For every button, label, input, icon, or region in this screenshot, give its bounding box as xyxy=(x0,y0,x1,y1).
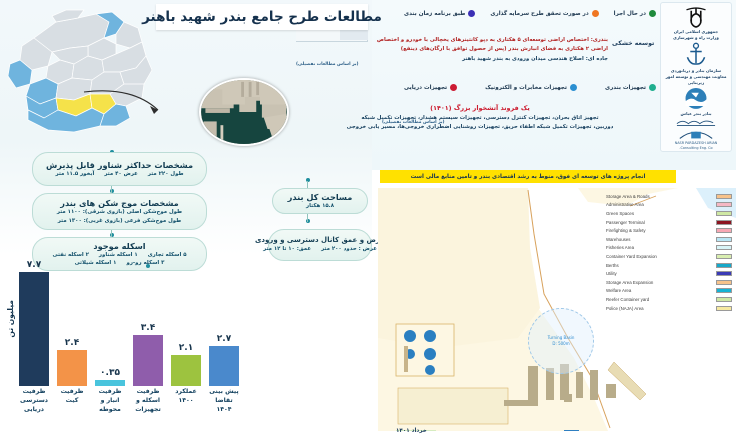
bar-rect xyxy=(171,355,201,386)
channel-width: عرض : حدود ۲۰۰ متر xyxy=(321,245,377,253)
map-legend-label: Container Yard Expansion xyxy=(606,254,657,259)
bar-label: ظرفیت اسکله و تجهیزات xyxy=(132,388,164,438)
map-legend-label: Berths xyxy=(606,263,619,268)
bar-value: ۰.۳۵ xyxy=(100,368,120,378)
map-legend-label: Warehouses xyxy=(606,237,631,242)
map-legend-row: Green Spaces xyxy=(606,209,732,218)
map-legend-label: Passenger Terminal xyxy=(606,220,645,225)
bubble-channel-title: عرض و عمق کانال دسترسی و ورودی xyxy=(255,236,385,245)
equipment-headline: یک فروند آتشخوار بزرگ (۱۴۰۱) xyxy=(300,104,660,112)
bubble-berths-row-1: ۵ اسکله تجاری ۱ اسکله شناور ۲ اسکله نفتی xyxy=(53,251,187,259)
map-legend-swatch xyxy=(716,228,732,233)
port-master-plan-map: Turning Basin D: 500m Storage Area & Roa… xyxy=(378,188,736,431)
map-legend-label: Police (NAJA) Area xyxy=(606,306,644,311)
bar-label: عملکرد ۱۴۰۰ xyxy=(170,388,202,438)
yellow-banner: انجام پروژه های توسعه ای فوق، منوط به رش… xyxy=(380,170,676,183)
map-legend-row: Container Yard Expansion xyxy=(606,252,732,261)
map-legend-label: Fisheries Area xyxy=(606,245,634,250)
legend-label-telecom-equipment: تجهیزات مخابرات و الکترونیک xyxy=(485,85,567,91)
page-title: مطالعات طرح جامع بندر شهید باهنر xyxy=(156,4,368,30)
infographic-root: مطالعات طرح جامع بندر شهید باهنر xyxy=(0,0,736,440)
bubble-max-vessel-title: مشخصات حداکثر شناور قابل پذیرش xyxy=(46,160,193,170)
yellow-banner-text: انجام پروژه های توسعه ای فوق، منوط به رش… xyxy=(411,174,646,180)
bubble-max-vessel: مشخصات حداکثر شناور قابل پذیرش طول ۲۲۰ م… xyxy=(32,152,207,186)
map-legend-swatch xyxy=(716,220,732,225)
bar-group: ۳.۴ xyxy=(132,323,164,386)
legend-item-in-progress: در حال اجرا xyxy=(614,10,656,17)
map-legend-swatch xyxy=(716,237,732,242)
map-legend-row: Warehouses xyxy=(606,235,732,244)
logo-caption-ministry: جمهوری اسلامی ایرانوزارت راه و شهرسازی xyxy=(673,29,719,41)
page-title-text: مطالعات طرح جامع بندر شهید باهنر xyxy=(142,9,382,25)
legend-label-marine-equipment: تجهیزات دریایی xyxy=(404,85,447,91)
bubble-breakwater: مشخصات موج شکن های بندر طول موج‌شکن اصلی… xyxy=(32,193,207,230)
map-legend-row: Storage Area Expansion xyxy=(606,278,732,287)
map-legend-swatch xyxy=(716,194,732,199)
section-label-dryland: توسعه خشکی xyxy=(612,40,654,47)
map-legend-swatch xyxy=(716,288,732,293)
map-legend-row: Reefer Container yard xyxy=(606,295,732,304)
logo-caption-bandar: بنادر بندر عباس xyxy=(681,111,712,117)
consultant-logo-icon xyxy=(675,127,717,140)
breakwater-main: طول موج‌شکن اصلی (بازوی شرقی): ۱۱۰۰ متر xyxy=(57,208,182,216)
equipment-description: یک فروند آتشخوار بزرگ (۱۴۰۱) تجهیز اتاق … xyxy=(300,104,660,133)
bar-value: ۷.۷ xyxy=(27,260,41,270)
bar-group: ۷.۷ xyxy=(18,260,50,386)
dryland-note: (بر اساس مطالعات تفصیلی) xyxy=(296,62,359,67)
map-legend-row: Welfare Area xyxy=(606,287,732,296)
turning-basin-diameter: D: 500m xyxy=(552,341,569,347)
logo-caption-consultant: NASR PARDAZESH ARIANConsulting Eng. Co. xyxy=(675,141,718,151)
bandar-abbas-logo-icon xyxy=(681,87,711,110)
breakwater-secondary: طول موج‌شکن فرعی (بازوی غربی): ۱۳۰۰ متر xyxy=(58,217,181,225)
title-ribbon-fold-shadow xyxy=(340,30,368,40)
bar-value: ۲.۴ xyxy=(65,338,79,348)
map-legend-row: Berths xyxy=(606,261,732,270)
bar-rect xyxy=(19,272,49,386)
dryland-line-1: بندری: اختصاص اراضی توسعه‌ای ۵ هکتاری به… xyxy=(392,36,608,45)
legend-dot-green xyxy=(649,10,656,17)
map-legend-label: Firefighting & Safety xyxy=(606,228,646,233)
bubble-channel-details: عرض : حدود ۲۰۰ متر عمق: ۱۰ تا ۱۲ متر xyxy=(263,245,377,253)
vessel-beam: عرض ۴۰ متر xyxy=(104,170,138,178)
map-legend-label: Reefer Container yard xyxy=(606,297,649,302)
map-legend-label: Storage Area Expansion xyxy=(606,280,653,285)
bar-label: ظرفیت دسترسی دریایی xyxy=(18,388,50,438)
bar-value: ۲.۱ xyxy=(179,343,193,353)
legend-item-investment: در صورت تحقق طرح سرمایه گذاری xyxy=(490,10,598,17)
bar-rect xyxy=(57,350,87,386)
map-legend-label: Administrative Area xyxy=(606,202,644,207)
legend-label-scheduled: طبق برنامه زمان بندی xyxy=(404,11,465,17)
connector-line-5 xyxy=(307,214,308,222)
berth-oil: ۲ اسکله نفتی xyxy=(53,251,89,259)
map-legend-row: Fisheries Area xyxy=(606,244,732,253)
map-legend-row: Utility xyxy=(606,269,732,278)
bar-label: پیش بینی تقاضا ۱۴۰۴ xyxy=(208,388,240,438)
dryland-line-3: جاده ای: اصلاح هندسی میدان ورودی به بندر… xyxy=(392,55,608,64)
legend-dot-teal xyxy=(649,84,656,91)
map-legend-swatch xyxy=(716,306,732,311)
channel-depth: عمق: ۱۰ تا ۱۲ متر xyxy=(263,245,311,253)
total-area-value: ۱۵.۸ هکتار xyxy=(306,202,334,210)
bar-group: ۲.۴ xyxy=(56,338,88,386)
map-legend-row: Storage Area & Roads xyxy=(606,192,732,201)
bar-rect xyxy=(133,335,163,386)
legend-label-port-equipment: تجهیزات بندری xyxy=(605,85,646,91)
map-legend-label: Storage Area & Roads xyxy=(606,194,650,199)
equipment-legend: تجهیزات بندری تجهیزات مخابرات و الکترونی… xyxy=(404,84,656,91)
berth-floating: ۱ اسکله شناور xyxy=(99,251,138,259)
bar-label: ظرفیت انبار و محوطه xyxy=(94,388,126,438)
map-legend-label: Green Spaces xyxy=(606,211,634,216)
berth-commercial: ۵ اسکله تجاری xyxy=(148,251,187,259)
bar-rect xyxy=(95,380,125,386)
map-legend-swatch xyxy=(716,263,732,268)
bubble-max-vessel-details: طول ۲۲۰ متر عرض ۴۰ متر آبخور ۱۱.۵ متر xyxy=(55,170,183,178)
bubble-access-channel: عرض و عمق کانال دسترسی و ورودی عرض : حدو… xyxy=(268,229,372,261)
map-legend-label: Welfare Area xyxy=(606,288,631,293)
footer-date: خرداد ۱۴۰۱ xyxy=(396,428,427,434)
bar-group: ۲.۷ xyxy=(208,334,240,386)
dryland-line-2: اراضی ۲ هکتاری به فضای انبارش بندر (پس ا… xyxy=(392,45,608,54)
equipment-line-1: تجهیز اتاق بحران، تجهیزات کنترل دسترسی، … xyxy=(300,114,660,123)
legend-dot-blue xyxy=(468,10,475,17)
map-legend-swatch xyxy=(716,254,732,259)
legend-label-investment: در صورت تحقق طرح سرمایه گذاری xyxy=(490,11,588,17)
map-legend: Storage Area & Roads Administrative Area… xyxy=(606,192,732,312)
status-legend: در حال اجرا در صورت تحقق طرح سرمایه گذار… xyxy=(404,10,656,17)
logo-caption-ports-org: سازمان بنادر و دریانوردیمعاونت مهندسی و … xyxy=(661,68,731,86)
legend-item-port-equipment: تجهیزات بندری xyxy=(605,84,656,91)
logo-panel: جمهوری اسلامی ایرانوزارت راه و شهرسازی س… xyxy=(660,2,732,152)
bar-group: ۲.۱ xyxy=(170,343,202,386)
vessel-draft: آبخور ۱۱.۵ متر xyxy=(55,170,94,178)
map-legend-row: Firefighting & Safety xyxy=(606,226,732,235)
legend-dot-skyblue xyxy=(570,84,577,91)
map-legend-row: Administrative Area xyxy=(606,201,732,210)
iran-emblem-icon xyxy=(683,7,709,28)
bar-value: ۳.۴ xyxy=(141,323,155,333)
map-legend-swatch xyxy=(716,202,732,207)
legend-item-telecom-equipment: تجهیزات مخابرات و الکترونیک xyxy=(485,84,577,91)
bar-group: ۰.۳۵ xyxy=(94,368,126,386)
equipment-line-2: دوربین، تجهیزات تکمیل شبکه اطفاء حریق، ت… xyxy=(300,123,660,132)
legend-item-scheduled: طبق برنامه زمان بندی xyxy=(404,10,475,17)
map-legend-swatch xyxy=(716,280,732,285)
bubble-breakwater-title: مشخصات موج شکن های بندر xyxy=(60,198,178,208)
map-legend-swatch xyxy=(716,245,732,250)
chart-y-axis-label: میلیون تن xyxy=(6,300,15,338)
bubble-berths-title: اسکله موجود xyxy=(93,241,145,251)
legend-dot-orange xyxy=(592,10,599,17)
legend-item-marine-equipment: تجهیزات دریایی xyxy=(404,84,457,91)
map-legend-row: Police (NAJA) Area xyxy=(606,304,732,313)
vessel-length: طول ۲۲۰ متر xyxy=(148,170,184,178)
map-legend-label: Utility xyxy=(606,271,617,276)
dryland-description: بندری: اختصاص اراضی توسعه‌ای ۵ هکتاری به… xyxy=(392,36,608,64)
chart-bars: ۷.۷ ۲.۴ ۰.۳۵ ۳.۴ ۲.۱ ۲.۷ xyxy=(18,268,240,386)
map-pointer-arrow xyxy=(80,84,208,146)
map-legend-swatch xyxy=(716,297,732,302)
map-legend-swatch xyxy=(716,271,732,276)
anchor-icon xyxy=(684,42,708,67)
turning-basin: Turning Basin D: 500m xyxy=(528,308,594,374)
map-legend-row: Passenger Terminal xyxy=(606,218,732,227)
legend-dot-red xyxy=(450,84,457,91)
port-satellite-photo xyxy=(199,78,289,146)
chart-category-labels: ظرفیت دسترسی دریایی ظرفیت کیت ظرفیت انبا… xyxy=(18,388,240,438)
bubble-total-area: مساحت کل بندر ۱۵.۸ هکتار xyxy=(272,188,368,214)
bar-value: ۲.۷ xyxy=(217,334,231,344)
bubble-total-area-title: مساحت کل بندر xyxy=(288,192,353,202)
legend-label-in-progress: در حال اجرا xyxy=(614,11,646,17)
consultant-script-icon xyxy=(674,118,718,127)
bar-rect xyxy=(209,346,239,386)
bar-label: ظرفیت کیت xyxy=(56,388,88,438)
equipment-note: (بر اساس مطالعات تفصیلی) xyxy=(382,120,445,125)
map-legend-swatch xyxy=(716,211,732,216)
